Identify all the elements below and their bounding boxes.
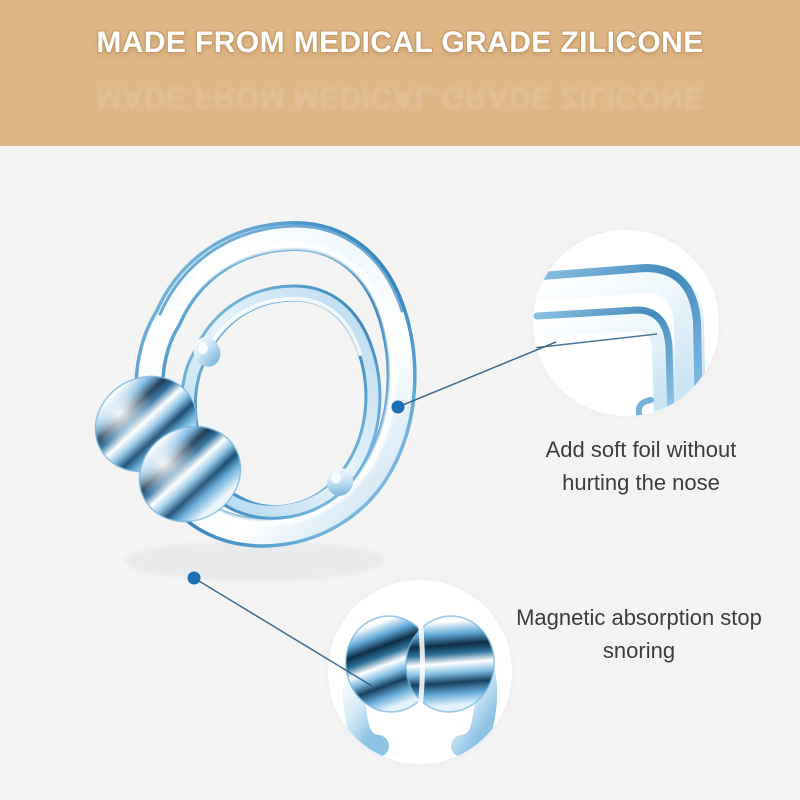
header-banner: MADE FROM MEDICAL GRADE ZILICONE MADE FR… (0, 0, 800, 146)
banner-title-reflection: MADE FROM MEDICAL GRADE ZILICONE (0, 80, 800, 114)
ball-contact-seam (420, 620, 423, 708)
magnifier-corner-art (533, 230, 719, 416)
caption-soft-foil-line2: hurting the nose (486, 466, 796, 499)
nub-lower-highlight (331, 473, 341, 484)
nub-upper-highlight (198, 342, 208, 354)
corner-hook (639, 400, 653, 416)
product-stage: Add soft foil without hurting the nose M… (0, 146, 800, 800)
product-infographic: MADE FROM MEDICAL GRADE ZILICONE MADE FR… (0, 0, 800, 800)
magnifier-silicone-corner (533, 230, 719, 416)
banner-title: MADE FROM MEDICAL GRADE ZILICONE (0, 26, 800, 60)
caption-magnetic-line1: Magnetic absorption stop (482, 601, 796, 634)
caption-soft-foil-line1: Add soft foil without (486, 433, 796, 466)
caption-magnetic-line2: snoring (482, 634, 796, 667)
product-illustration (40, 206, 460, 626)
caption-magnetic: Magnetic absorption stop snoring (482, 601, 796, 667)
caption-soft-foil: Add soft foil without hurting the nose (486, 433, 796, 499)
